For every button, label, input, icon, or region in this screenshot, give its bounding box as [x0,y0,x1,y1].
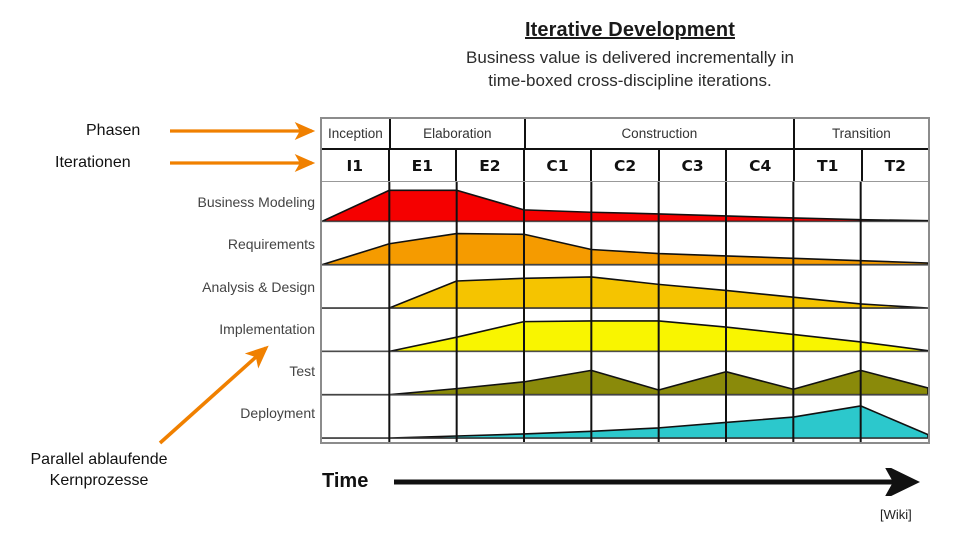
phase-cell-elaboration: Elaboration [391,119,526,148]
iteration-cell-c2: C2 [592,150,660,181]
time-arrow-icon [394,468,934,496]
annotation-iterationen: Iterationen [55,154,131,172]
iteration-cell-e1: E1 [390,150,458,181]
iteration-cell-c1: C1 [525,150,593,181]
hump-plot-area [322,182,928,442]
time-axis-label: Time [322,470,368,493]
discipline-label-deployment: Deployment [240,405,315,421]
phase-header-row: Inception Elaboration Construction Trans… [322,119,928,150]
hump-business-modeling [322,190,928,221]
arrow-parallel-kernprozesse [160,348,266,443]
discipline-label-test: Test [289,363,315,379]
diagram-stage: Iterative Development Business value is … [0,0,957,549]
hump-plot-svg [322,182,928,442]
page-title: Iterative Development [330,18,930,43]
iteration-cell-c3: C3 [660,150,728,181]
discipline-label-business-modeling: Business Modeling [197,194,315,210]
subtitle-line-2: time-boxed cross-discipline iterations. [330,70,930,93]
phase-cell-transition: Transition [795,119,928,148]
annotation-phasen: Phasen [86,122,140,140]
iteration-cell-i1: I1 [322,150,390,181]
iteration-cell-t1: T1 [795,150,863,181]
hump-implementation [322,321,928,351]
discipline-label-analysis-design: Analysis & Design [202,279,315,295]
iteration-header-row: I1 E1 E2 C1 C2 C3 C4 T1 T2 [322,150,928,182]
phase-cell-inception: Inception [322,119,391,148]
hump-requirements [322,234,928,265]
hump-deployment [322,406,928,438]
discipline-humps [322,190,928,438]
phase-cell-construction: Construction [526,119,795,148]
iteration-cell-t2: T2 [863,150,929,181]
hump-chart: Inception Elaboration Construction Trans… [320,117,930,444]
source-caption: [Wiki] [880,507,912,522]
annotation-parallel-kernprozesse: Parallel ablaufende Kernprozesse [4,450,194,492]
iteration-cell-c4: C4 [727,150,795,181]
title-block: Iterative Development Business value is … [330,18,930,93]
discipline-label-implementation: Implementation [219,321,315,337]
hump-test [322,370,928,394]
hump-analysis-design [322,277,928,308]
page-subtitle: Business value is delivered incrementall… [330,47,930,93]
subtitle-line-1: Business value is delivered incrementall… [330,47,930,70]
discipline-label-requirements: Requirements [228,236,315,252]
time-axis: Time [322,466,932,500]
iteration-cell-e2: E2 [457,150,525,181]
